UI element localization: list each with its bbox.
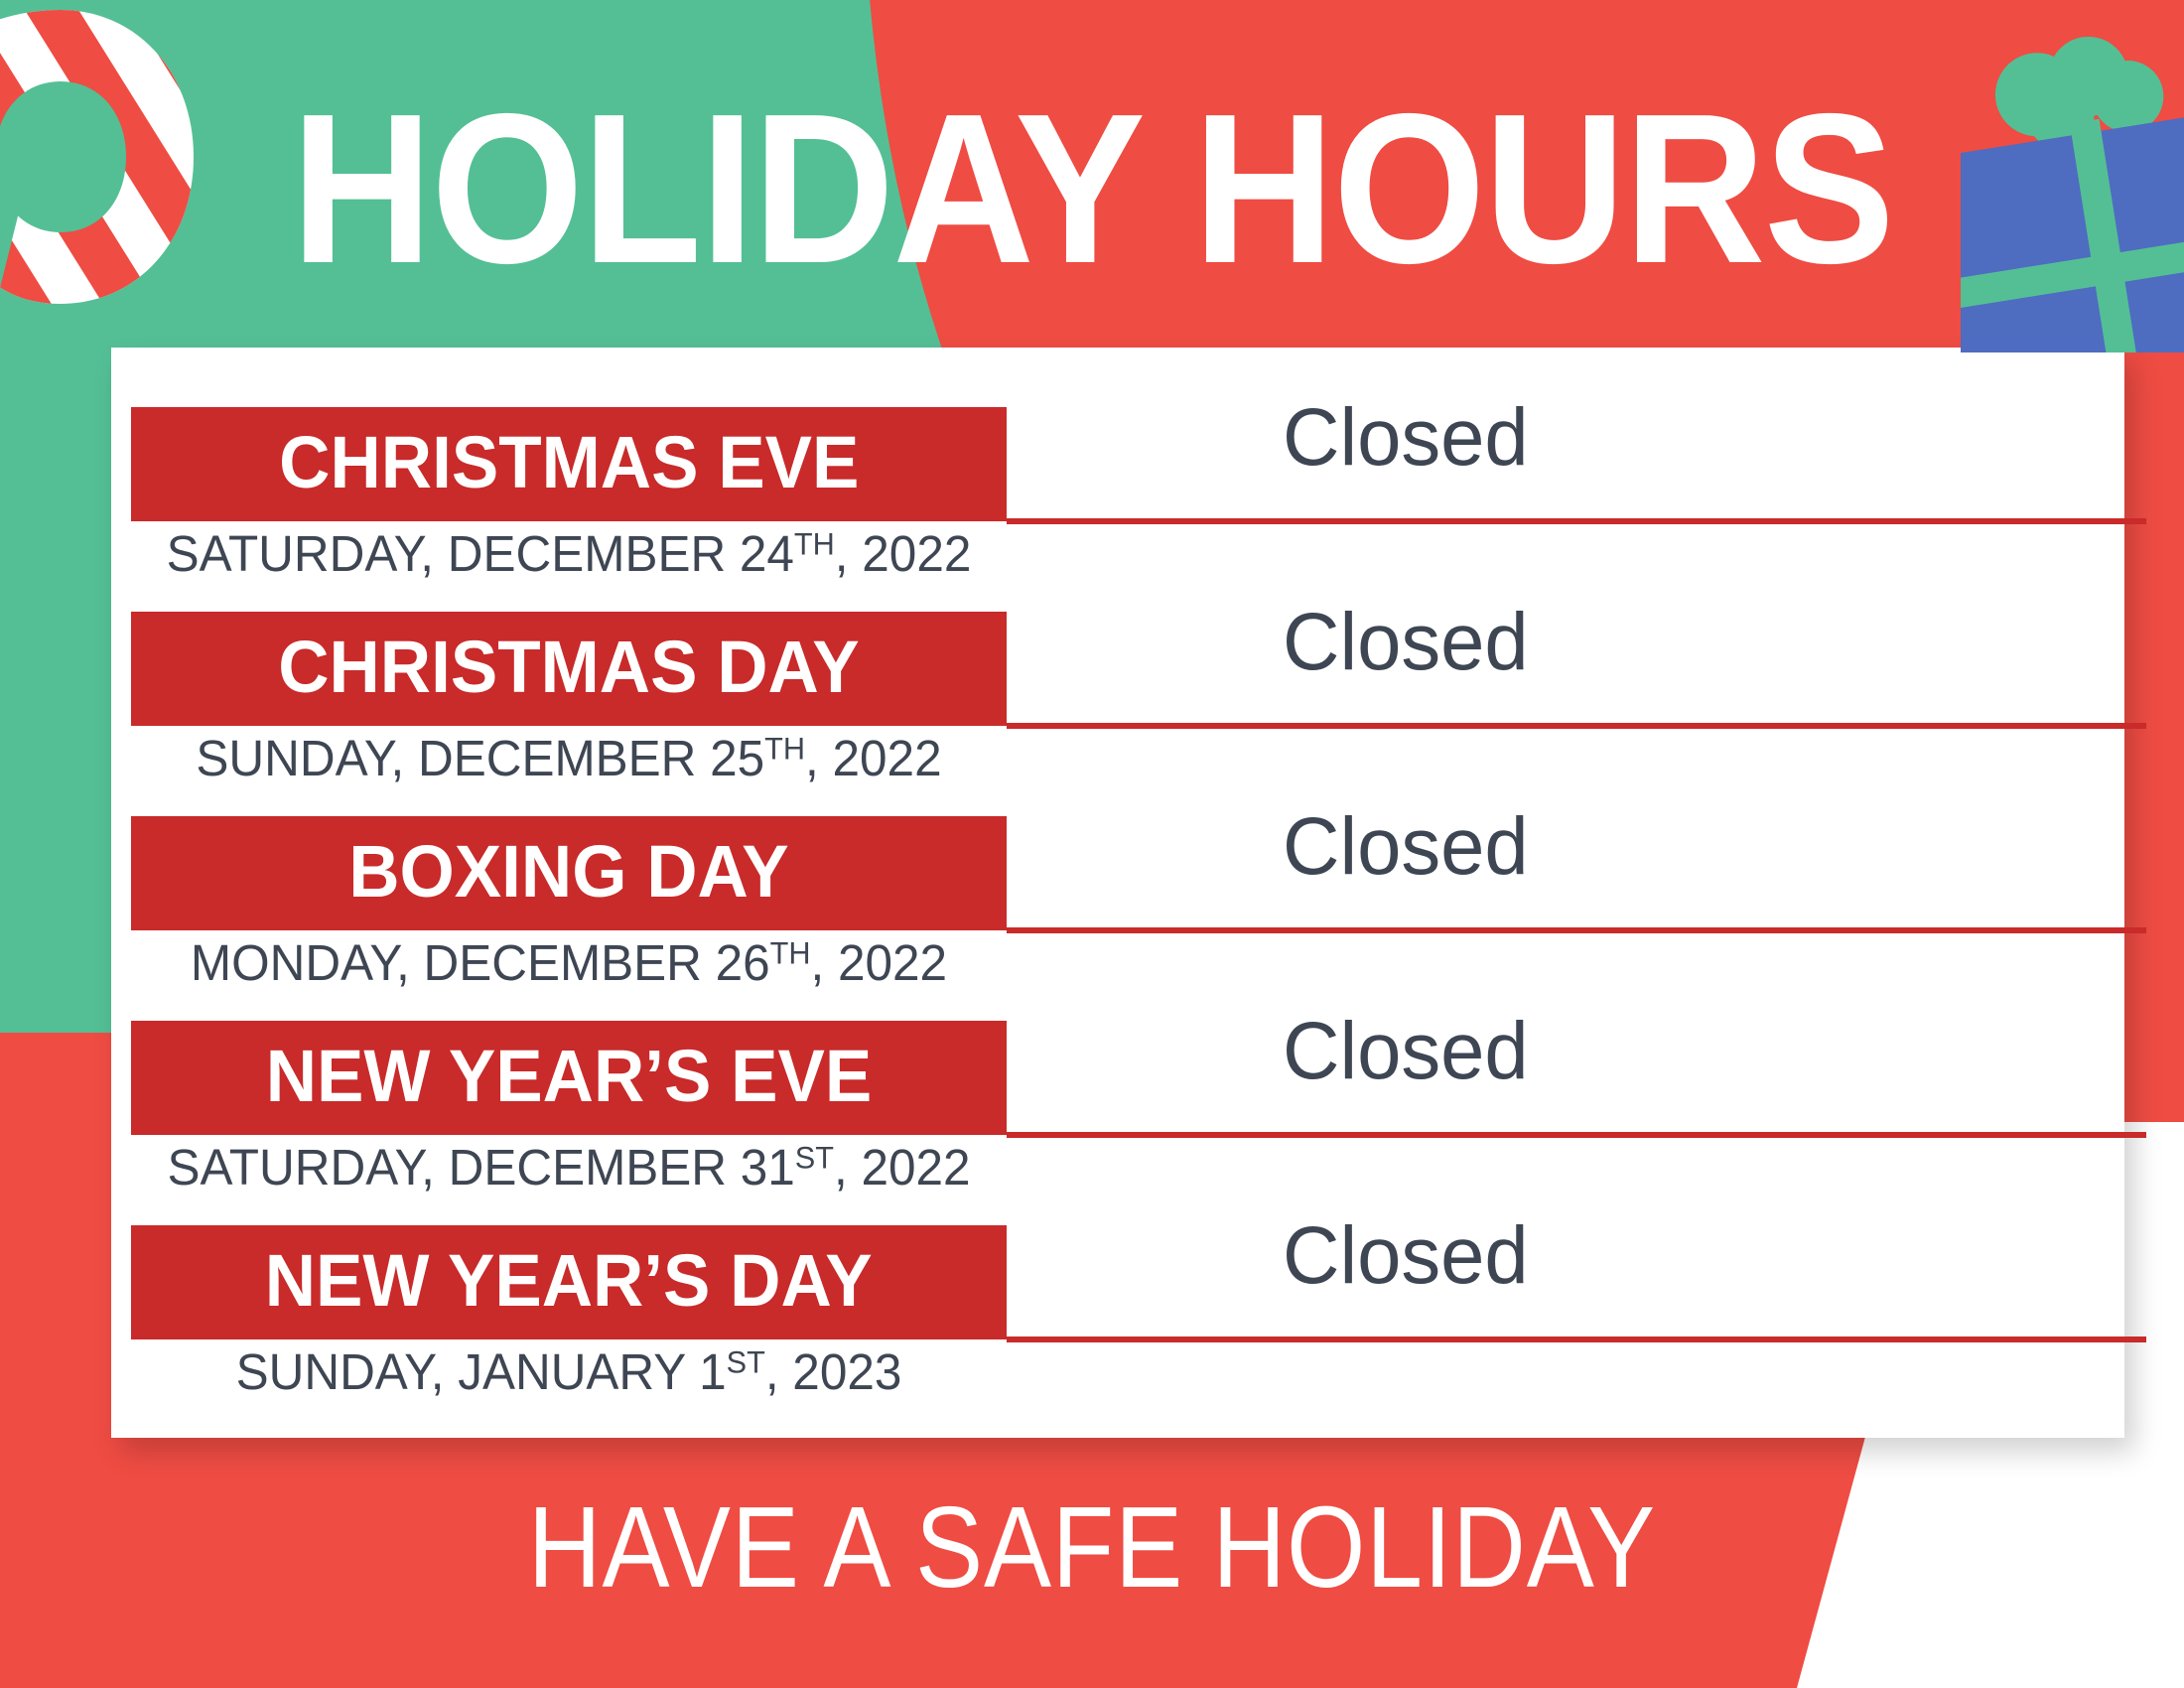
date-prefix: SUNDAY, JANUARY 1 [236, 1343, 727, 1400]
date-ordinal: TH [764, 731, 805, 767]
holiday-name-band: CHRISTMAS EVE [131, 407, 1007, 521]
holiday-name-band: CHRISTMAS DAY [131, 612, 1007, 726]
date-suffix: , 2023 [765, 1343, 902, 1400]
status-underline [1007, 1132, 2146, 1138]
holiday-date: SUNDAY, DECEMBER 25TH, 2022 [144, 729, 994, 788]
date-prefix: SATURDAY, DECEMBER 31 [167, 1139, 794, 1196]
date-suffix: , 2022 [805, 730, 942, 786]
table-row: BOXING DAY MONDAY, DECEMBER 26TH, 2022 C… [111, 816, 2124, 1020]
holiday-name: CHRISTMAS EVE [279, 426, 859, 499]
date-ordinal: ST [727, 1344, 765, 1380]
date-suffix: , 2022 [834, 1139, 971, 1196]
date-prefix: SUNDAY, DECEMBER 25 [196, 730, 764, 786]
date-suffix: , 2022 [835, 525, 972, 582]
holiday-date: SATURDAY, DECEMBER 24TH, 2022 [144, 524, 994, 584]
status-value: Closed [1283, 383, 1529, 492]
schedule-card: CHRISTMAS EVE SATURDAY, DECEMBER 24TH, 2… [111, 348, 2124, 1438]
status-underline [1007, 518, 2146, 524]
date-ordinal: ST [795, 1140, 834, 1176]
date-prefix: SATURDAY, DECEMBER 24 [167, 525, 794, 582]
table-row: NEW YEAR’S EVE SATURDAY, DECEMBER 31ST, … [111, 1021, 2124, 1224]
table-row: CHRISTMAS EVE SATURDAY, DECEMBER 24TH, 2… [111, 407, 2124, 611]
holiday-date: SUNDAY, JANUARY 1ST, 2023 [144, 1342, 994, 1402]
status-value: Closed [1283, 997, 1529, 1106]
holiday-name: NEW YEAR’S DAY [265, 1244, 873, 1318]
holiday-date: MONDAY, DECEMBER 26TH, 2022 [144, 933, 994, 993]
holiday-name-band: NEW YEAR’S DAY [131, 1225, 1007, 1339]
page-title: HOLIDAY HOURS [87, 81, 2097, 295]
date-suffix: , 2022 [811, 934, 948, 991]
date-prefix: MONDAY, DECEMBER 26 [191, 934, 770, 991]
date-ordinal: TH [770, 935, 811, 971]
status-value: Closed [1283, 1201, 1529, 1311]
holiday-hours-poster: HOLIDAY HOURS CHRISTMAS EVE SATURDAY, DE… [0, 0, 2184, 1688]
status-value: Closed [1283, 792, 1529, 902]
holiday-name: CHRISTMAS DAY [278, 631, 859, 704]
status-underline [1007, 723, 2146, 729]
holiday-name-band: BOXING DAY [131, 816, 1007, 930]
footer-message: HAVE A SAFE HOLIDAY [131, 1489, 2053, 1605]
holiday-name: BOXING DAY [348, 835, 788, 909]
holiday-name-band: NEW YEAR’S EVE [131, 1021, 1007, 1135]
table-row: CHRISTMAS DAY SUNDAY, DECEMBER 25TH, 202… [111, 612, 2124, 815]
date-ordinal: TH [794, 526, 835, 562]
status-underline [1007, 927, 2146, 933]
status-value: Closed [1283, 588, 1529, 697]
table-row: NEW YEAR’S DAY SUNDAY, JANUARY 1ST, 2023… [111, 1225, 2124, 1429]
status-underline [1007, 1336, 2146, 1342]
holiday-name: NEW YEAR’S EVE [266, 1040, 873, 1113]
holiday-date: SATURDAY, DECEMBER 31ST, 2022 [144, 1138, 994, 1197]
schedule-rows: CHRISTMAS EVE SATURDAY, DECEMBER 24TH, 2… [111, 348, 2124, 1438]
